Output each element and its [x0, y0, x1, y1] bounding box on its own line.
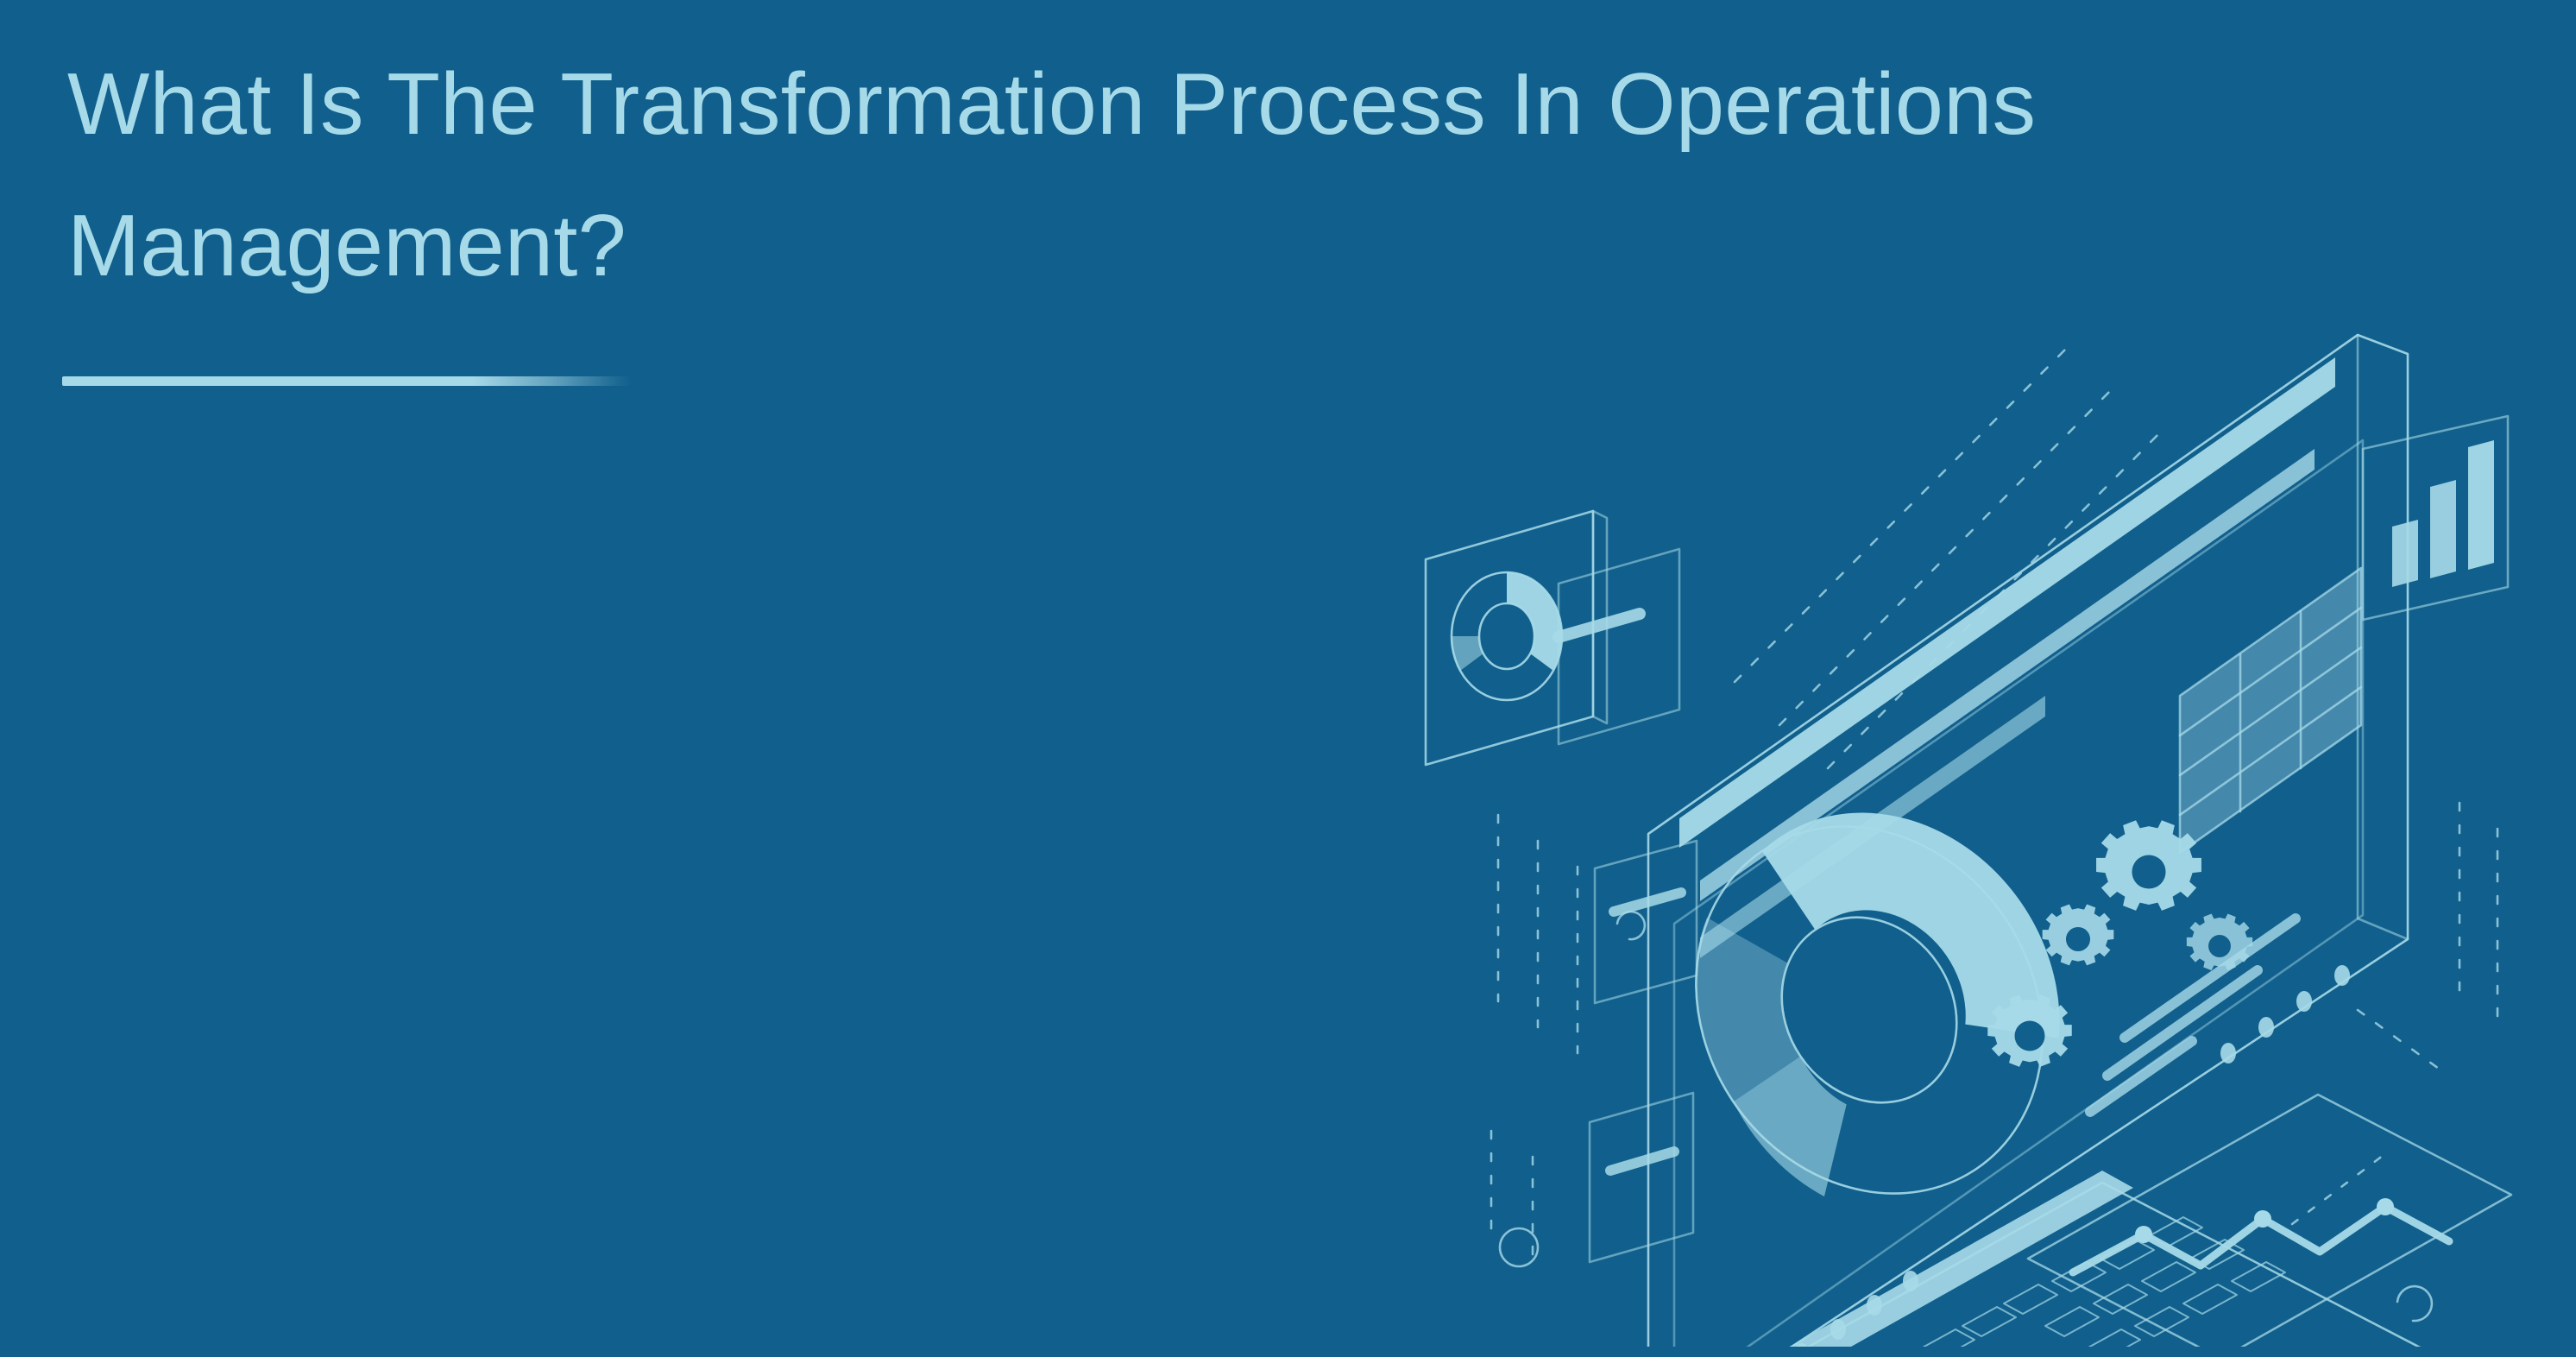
left-side-cards: [1590, 841, 1697, 1262]
keyboard-base: [1645, 1171, 2428, 1347]
title-underline-rule: [62, 376, 632, 386]
line-chart-card: [2028, 1095, 2511, 1347]
dotted-connector-lines: [1491, 344, 2497, 1347]
illustration-svg: [1389, 319, 2546, 1347]
page-canvas: What Is The Transformation Process In Op…: [0, 0, 2576, 1357]
screen-dashboard-panel: [1648, 335, 2408, 1347]
bar-chart-card: [2363, 416, 2508, 620]
page-title: What Is The Transformation Process In Op…: [67, 35, 2449, 317]
donut-chart-card: [1426, 511, 1679, 765]
isometric-analytics-workstation-illustration: [1389, 319, 2546, 1347]
spreadsheet-grid-panel: [2180, 568, 2361, 853]
heading-block: What Is The Transformation Process In Op…: [67, 35, 2484, 317]
